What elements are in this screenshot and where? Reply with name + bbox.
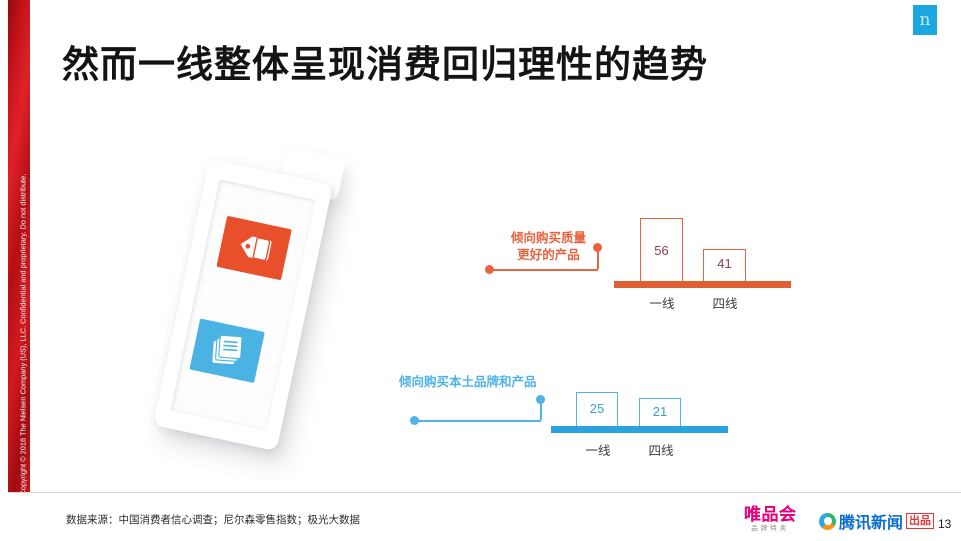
local-brand-category-tier1: 一线: [570, 440, 626, 459]
tencent-news-text: 腾讯新闻: [839, 509, 903, 533]
vipshop-logo-sub: 品牌特卖: [744, 524, 797, 533]
local-brand-bar-tier4-value: 21: [640, 404, 680, 419]
local-brand-chart-baseline: [551, 426, 728, 433]
tencent-news-logo: 腾讯新闻 出品: [819, 509, 934, 533]
tencent-produced-badge: 出品: [906, 513, 934, 529]
slide-canvas: Copyright © 2018 The Nielsen Company (US…: [0, 0, 961, 541]
local-brand-chart: 倾向购买本土品牌和产品 25 21 一线 四线: [0, 0, 961, 541]
vipshop-logo: 唯品会 品牌特卖: [744, 506, 797, 533]
tencent-news-mark-icon: [819, 513, 836, 530]
local-brand-bar-tier4: 21: [639, 398, 681, 426]
local-brand-chart-label: 倾向购买本土品牌和产品: [399, 373, 537, 390]
footer-divider: [8, 492, 961, 493]
source-note: 数据来源：中国消费者信心调查；尼尔森零售指数；极光大数据: [66, 512, 360, 527]
vipshop-logo-main: 唯品会: [744, 506, 797, 524]
page-number: 13: [938, 517, 951, 531]
local-brand-chart-label-line1: 倾向购买本土品牌和产品: [399, 373, 537, 390]
local-brand-bar-tier1: 25: [576, 392, 618, 426]
local-brand-category-tier4: 四线: [633, 440, 689, 459]
local-brand-connector-dot-right: [536, 395, 545, 404]
local-brand-bar-tier1-value: 25: [577, 401, 617, 416]
local-brand-connector-line-h: [415, 420, 541, 422]
